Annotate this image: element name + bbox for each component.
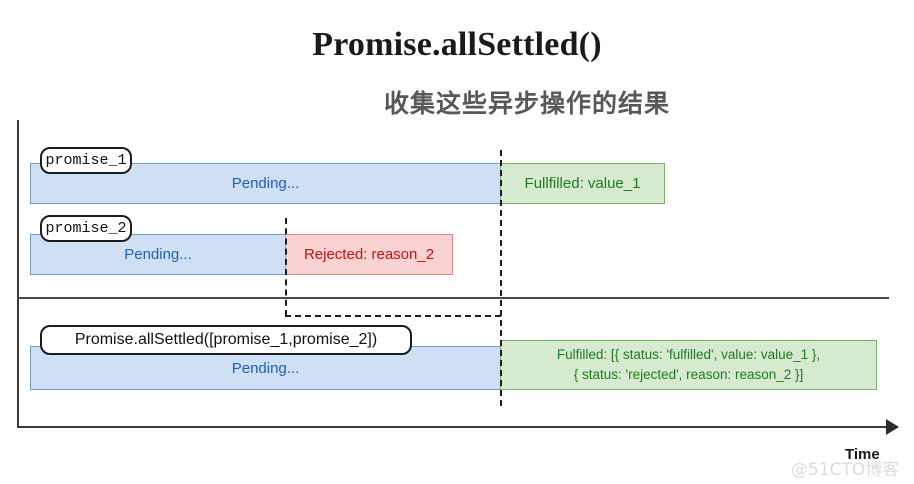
allsettled-name-tag: Promise.allSettled([promise_1,promise_2]…: [40, 325, 412, 355]
allsettled-pending-label: Pending...: [232, 360, 300, 377]
page-title: Promise.allSettled(): [0, 26, 914, 64]
allsettled-result-line-2: { status: 'rejected', reason: reason_2 }…: [574, 365, 804, 385]
settle-time-guide-promise-1: [500, 150, 502, 406]
section-divider-line: [17, 297, 889, 299]
time-axis-line: [17, 426, 889, 428]
diagram-canvas: Promise.allSettled() 收集这些异步操作的结果 Time Pe…: [0, 0, 914, 484]
promise-1-fulfilled-bar: Fullfilled: value_1: [500, 163, 665, 204]
promise-2-name-label: promise_2: [45, 220, 126, 237]
promise-2-rejected-label: Rejected: reason_2: [304, 246, 434, 263]
promise-1-fulfilled-label: Fullfilled: value_1: [525, 175, 641, 192]
allsettled-result-line-1: Fulfilled: [{ status: 'fulfilled', value…: [557, 345, 820, 365]
allsettled-fulfilled-bar: Fulfilled: [{ status: 'fulfilled', value…: [500, 340, 877, 390]
settle-time-guide-promise-2: [285, 218, 287, 316]
watermark: @51CTO博客: [791, 455, 899, 480]
promise-2-pending-label: Pending...: [124, 246, 192, 263]
promise-1-name-tag: promise_1: [40, 147, 132, 174]
promise-1-name-label: promise_1: [45, 152, 126, 169]
promise-2-name-tag: promise_2: [40, 215, 132, 242]
promise-1-pending-label: Pending...: [232, 175, 300, 192]
page-subtitle: 收集这些异步操作的结果: [0, 84, 914, 120]
settle-range-connector: [285, 315, 501, 317]
time-axis-arrow-icon: [886, 419, 899, 435]
promise-2-rejected-bar: Rejected: reason_2: [285, 234, 453, 275]
allsettled-name-label: Promise.allSettled([promise_1,promise_2]…: [75, 331, 377, 349]
vertical-axis-line: [17, 120, 19, 428]
